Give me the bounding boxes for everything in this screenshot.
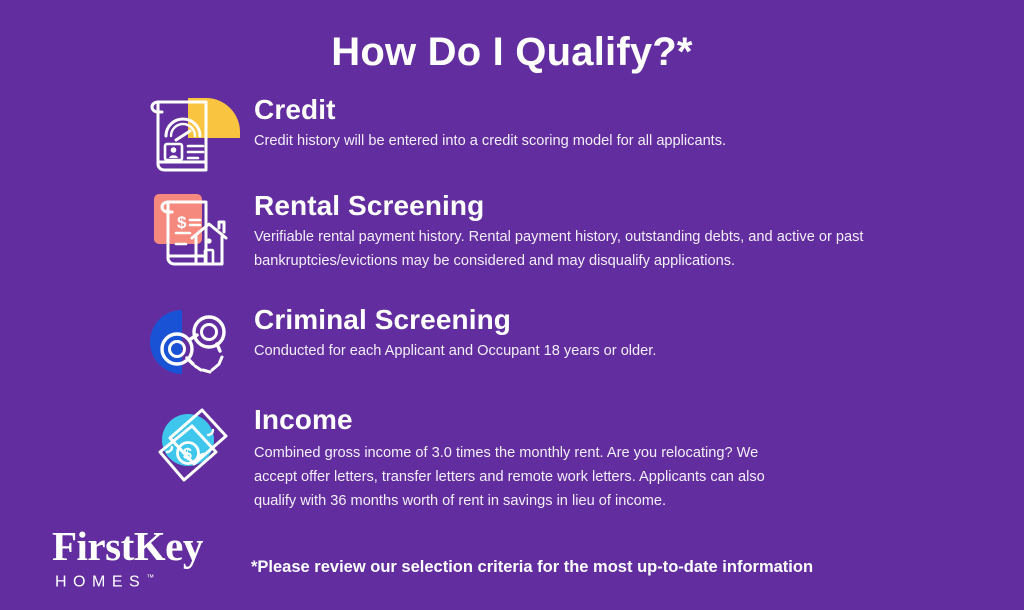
firstkey-homes-logo: FirstKey HOMES™ [52,526,252,591]
icon-cell-criminal-screening [146,302,254,390]
criteria-item-rental-screening: $ Rental Screening Verifiable rental pay… [146,188,1006,302]
icon-cell-credit [146,92,254,180]
criteria-heading-rental-screening: Rental Screening [254,190,899,221]
banknotes-money-icon: $ [146,402,240,490]
criteria-heading-criminal-screening: Criminal Screening [254,304,656,335]
credit-report-document-icon [146,92,240,180]
qualification-criteria-list: Credit Credit history will be entered in… [146,92,1006,522]
svg-text:$: $ [183,446,192,463]
criteria-heading-credit: Credit [254,94,726,125]
criteria-body-credit: Credit history will be entered into a cr… [254,130,726,154]
logo-subtext-label: HOMES [55,573,146,590]
criteria-heading-income: Income [254,404,799,435]
icon-cell-rental-screening: $ [146,188,254,276]
logo-subtext: HOMES™ [55,573,252,591]
icon-cell-income: $ [146,402,254,490]
criteria-item-credit: Credit Credit history will be entered in… [146,92,1006,188]
logo-wordmark: FirstKey [52,526,252,567]
handcuffs-icon [146,302,240,390]
rental-receipt-house-icon: $ [146,188,240,276]
text-cell-rental-screening: Rental Screening Verifiable rental payme… [254,188,899,274]
text-cell-credit: Credit Credit history will be entered in… [254,92,726,154]
criteria-body-income: Combined gross income of 3.0 times the m… [254,442,799,513]
criteria-body-criminal-screening: Conducted for each Applicant and Occupan… [254,340,656,364]
criteria-item-income: $ Income Combined gross income of 3.0 ti… [146,402,1006,522]
footer-disclaimer: *Please review our selection criteria fo… [251,558,813,577]
page-title: How Do I Qualify?* [0,30,1024,74]
criteria-item-criminal-screening: Criminal Screening Conducted for each Ap… [146,302,1006,402]
text-cell-criminal-screening: Criminal Screening Conducted for each Ap… [254,302,656,364]
text-cell-income: Income Combined gross income of 3.0 time… [254,402,799,513]
svg-text:$: $ [177,213,187,232]
criteria-body-rental-screening: Verifiable rental payment history. Renta… [254,226,899,273]
footer: FirstKey HOMES™ *Please review our selec… [0,514,1024,610]
trademark-symbol: ™ [146,573,154,582]
